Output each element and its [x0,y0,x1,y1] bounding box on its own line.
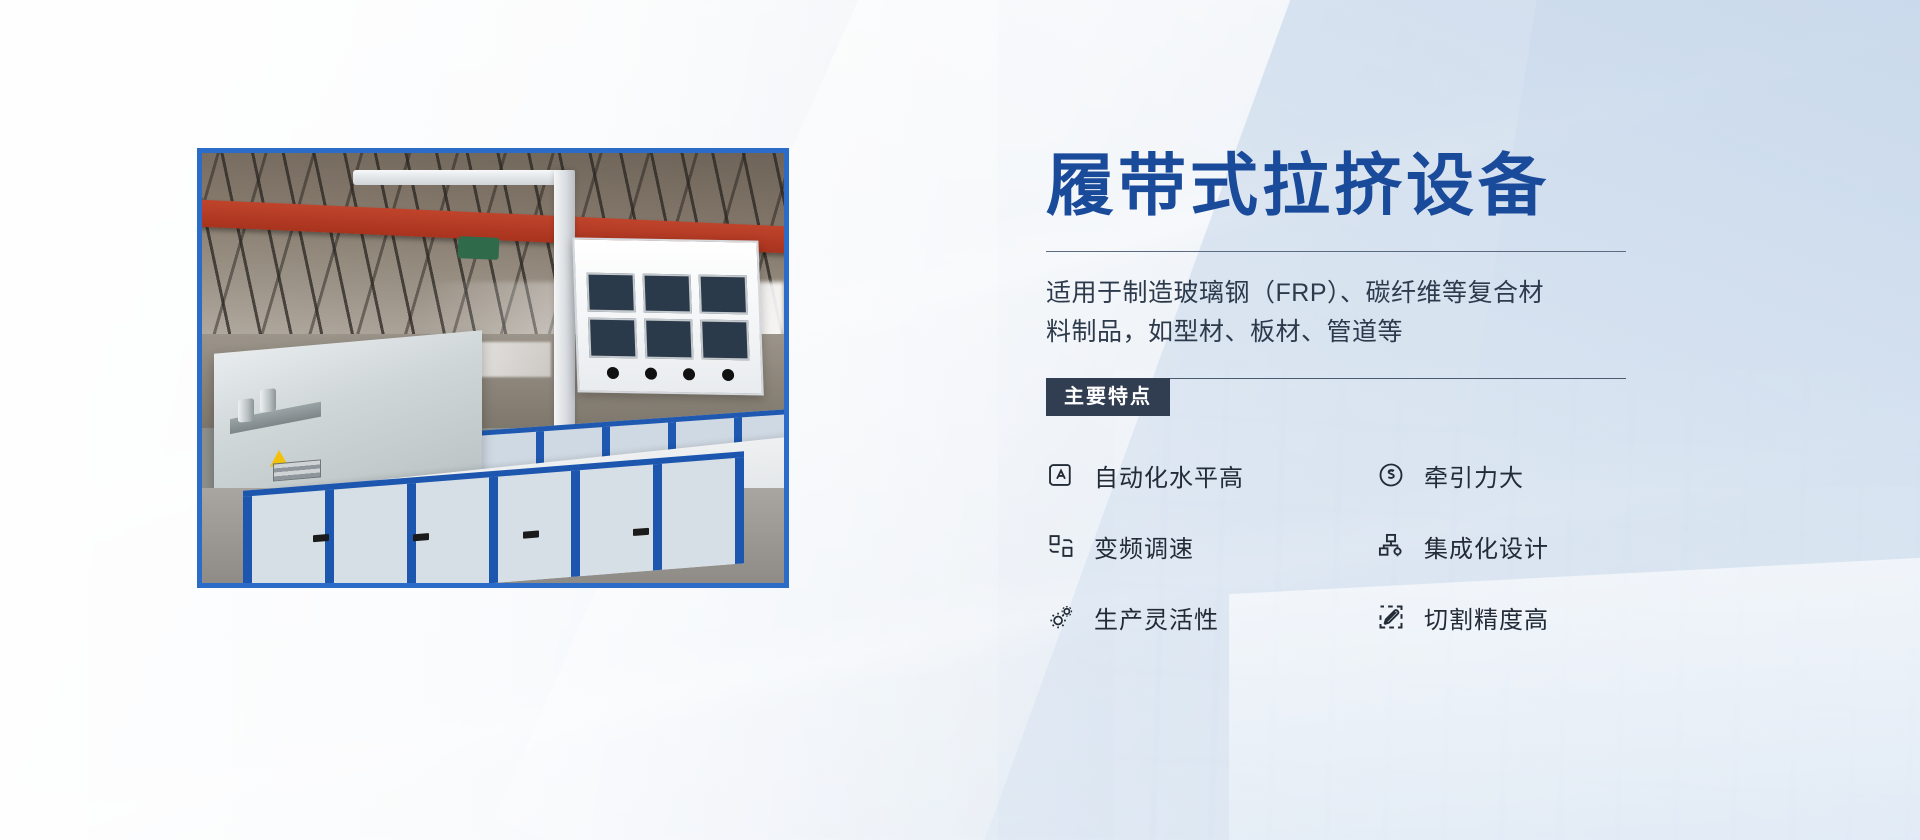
photo-hydraulic-cylinder [259,389,275,414]
feature-label: 集成化设计 [1424,529,1549,564]
photo-knob [683,368,695,380]
automation-icon [1046,460,1076,490]
feature-label: 变频调速 [1094,529,1194,564]
feature-item-integration: 集成化设计 [1376,529,1706,564]
photo-crane-hoist [458,236,500,259]
gears-icon [1046,602,1076,632]
photo-knob [721,369,733,381]
feature-item-traction: 牵引力大 [1376,458,1706,493]
photo-meter [700,320,750,360]
integration-icon [1376,531,1406,561]
photo-hydraulic-cylinder [238,398,254,423]
page-title: 履带式拉挤设备 [1046,150,1746,223]
photo-gantry-arm [353,170,563,185]
description-line-1: 适用于制造玻璃钢（FRP）、碳纤维等复合材 [1046,274,1646,313]
title-divider [1046,251,1626,252]
feature-label: 牵引力大 [1424,458,1524,493]
feature-label: 生产灵活性 [1094,600,1219,635]
feature-item-cut-precision: 切割精度高 [1376,600,1706,635]
photo-panel-knobs [593,363,747,384]
precision-cut-icon [1376,602,1406,632]
photo-control-panel [572,237,764,395]
features-header: 主要特点 [1046,378,1746,416]
photo-meter [698,275,748,315]
description-line-2: 料制品，如型材、板材、管道等 [1046,313,1646,352]
features-badge: 主要特点 [1046,378,1170,416]
frequency-control-icon [1046,531,1076,561]
photo-cabinet-handle [633,528,649,536]
photo-knob [606,367,618,379]
product-photo [202,153,784,583]
feature-item-flexibility: 生产灵活性 [1046,600,1376,635]
feature-label: 切割精度高 [1424,600,1549,635]
features-grid: 自动化水平高 牵引力大 [1046,458,1746,635]
photo-meter [586,273,636,313]
feature-label: 自动化水平高 [1094,458,1244,493]
product-banner: 履带式拉挤设备 适用于制造玻璃钢（FRP）、碳纤维等复合材 料制品，如型材、板材… [0,0,1920,840]
product-photo-card [197,148,789,588]
product-description: 适用于制造玻璃钢（FRP）、碳纤维等复合材 料制品，如型材、板材、管道等 [1046,274,1646,352]
feature-item-automation: 自动化水平高 [1046,458,1376,493]
feature-item-frequency-control: 变频调速 [1046,529,1376,564]
photo-meter [642,274,692,314]
photo-caterpillar-rollers [273,459,321,482]
banner-content: 履带式拉挤设备 适用于制造玻璃钢（FRP）、碳纤维等复合材 料制品，如型材、板材… [1046,150,1746,635]
photo-knob [644,367,656,379]
photo-meter [644,319,694,359]
photo-cabinet-handle [313,535,329,543]
photo-meter [587,318,637,358]
photo-panel-meters [586,273,750,360]
photo-cabinet-handle [523,531,539,539]
traction-icon [1376,460,1406,490]
photo-cabinet-handle [413,533,429,541]
